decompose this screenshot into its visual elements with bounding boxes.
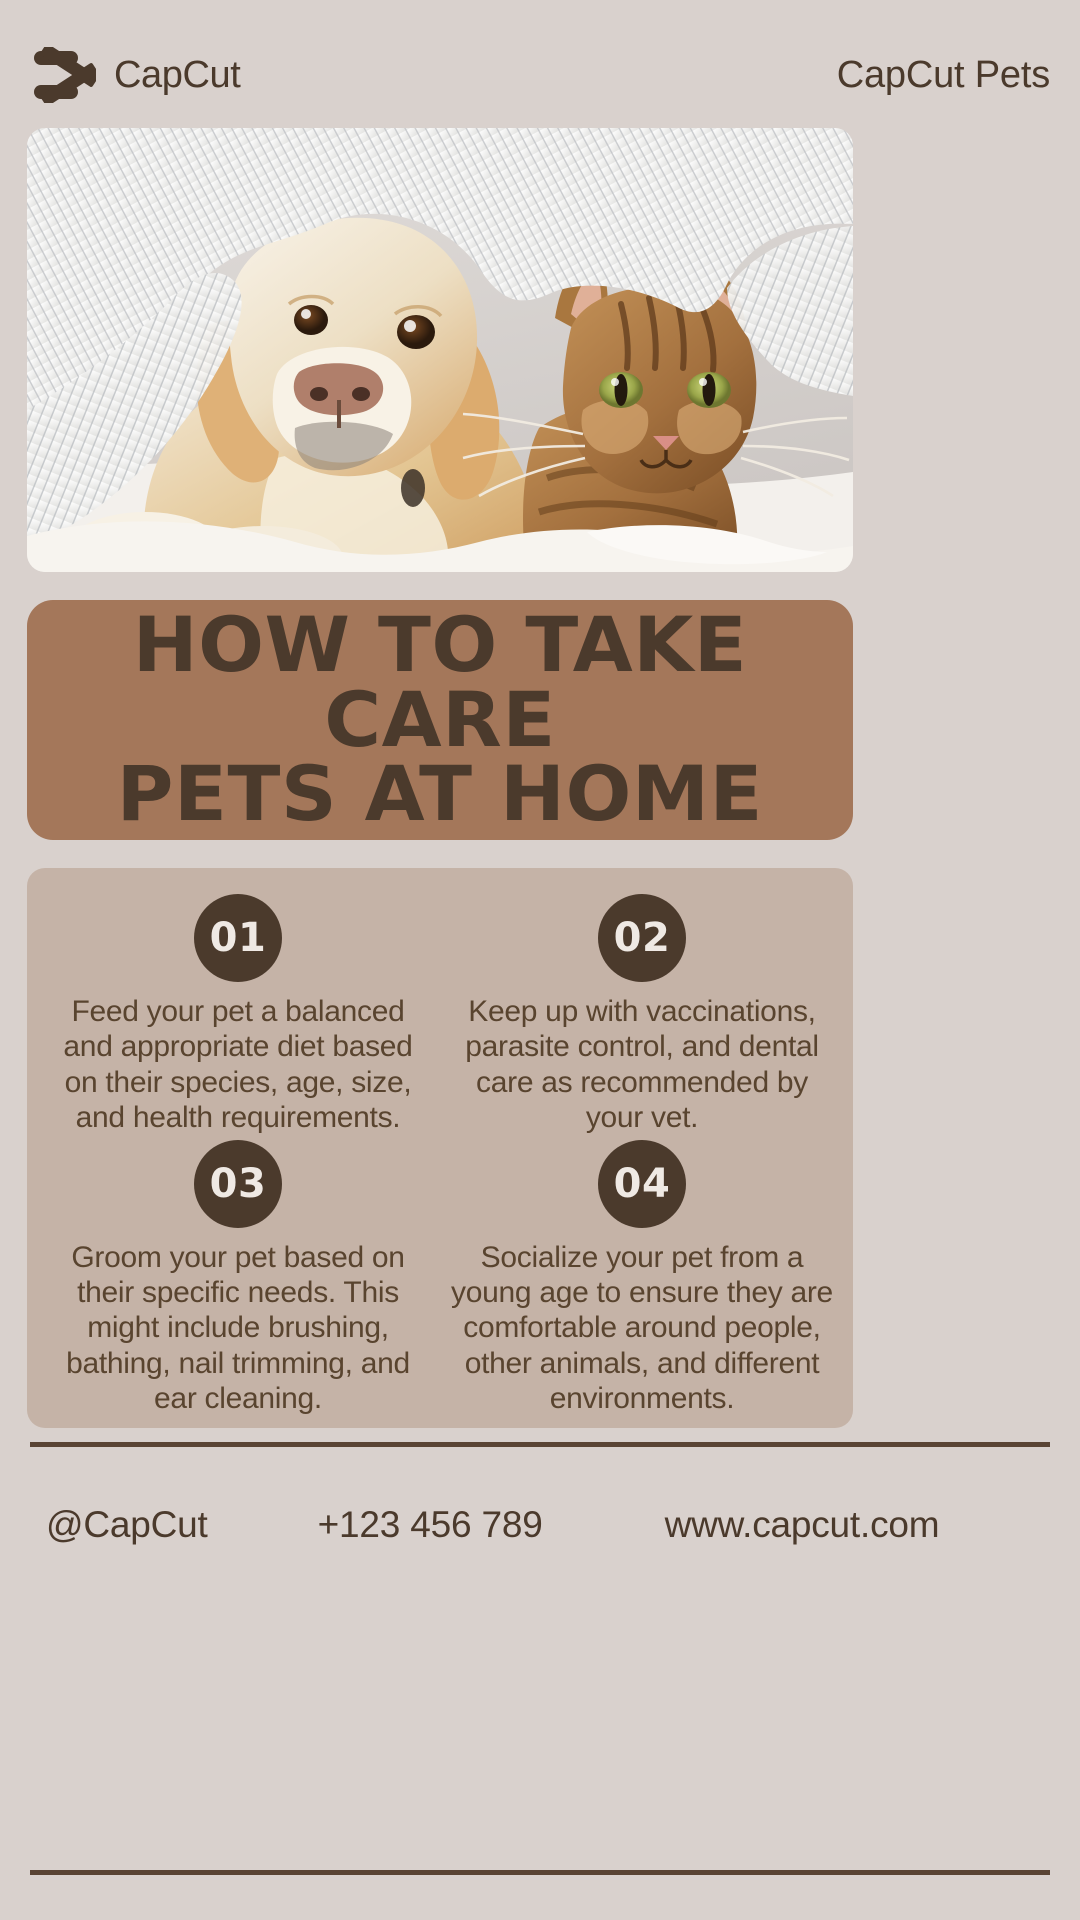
capcut-logo-icon	[30, 47, 96, 103]
page-footer: @CapCut +123 456 789 www.capcut.com	[30, 1470, 1050, 1580]
page-title-line-2: PETS AT HOME	[117, 757, 763, 831]
footer-divider-bottom	[30, 1870, 1050, 1875]
tips-card: 01 Feed your pet a balanced and appropri…	[27, 868, 853, 1428]
brand-lockup[interactable]: CapCut	[30, 47, 240, 103]
tip-number-badge: 04	[598, 1140, 686, 1228]
hero-photo	[27, 128, 853, 572]
title-banner: HOW TO TAKE CARE PETS AT HOME	[27, 600, 853, 840]
tip-item-04: 04 Socialize your pet from a young age t…	[445, 1140, 839, 1417]
brand-name: CapCut	[114, 56, 240, 94]
tip-number-badge: 03	[194, 1140, 282, 1228]
page-header: CapCut CapCut Pets	[30, 44, 1050, 106]
tip-item-01: 01 Feed your pet a balanced and appropri…	[41, 894, 435, 1136]
tip-number-badge: 01	[194, 894, 282, 982]
tip-text: Socialize your pet from a young age to e…	[445, 1240, 839, 1417]
footer-website-url[interactable]: www.capcut.com	[665, 1504, 940, 1546]
tip-text: Keep up with vaccinations, parasite cont…	[445, 994, 839, 1136]
footer-phone-number[interactable]: +123 456 789	[318, 1504, 543, 1546]
tip-text: Groom your pet based on their specific n…	[41, 1240, 435, 1417]
tip-number-badge: 02	[598, 894, 686, 982]
tip-item-02: 02 Keep up with vaccinations, parasite c…	[445, 894, 839, 1136]
header-right-label: CapCut Pets	[837, 56, 1050, 94]
page-title-line-1: HOW TO TAKE CARE	[19, 608, 862, 757]
footer-social-handle[interactable]: @CapCut	[46, 1504, 208, 1546]
tip-item-03: 03 Groom your pet based on their specifi…	[41, 1140, 435, 1417]
footer-divider-top	[30, 1442, 1050, 1447]
tip-text: Feed your pet a balanced and appropriate…	[41, 994, 435, 1136]
